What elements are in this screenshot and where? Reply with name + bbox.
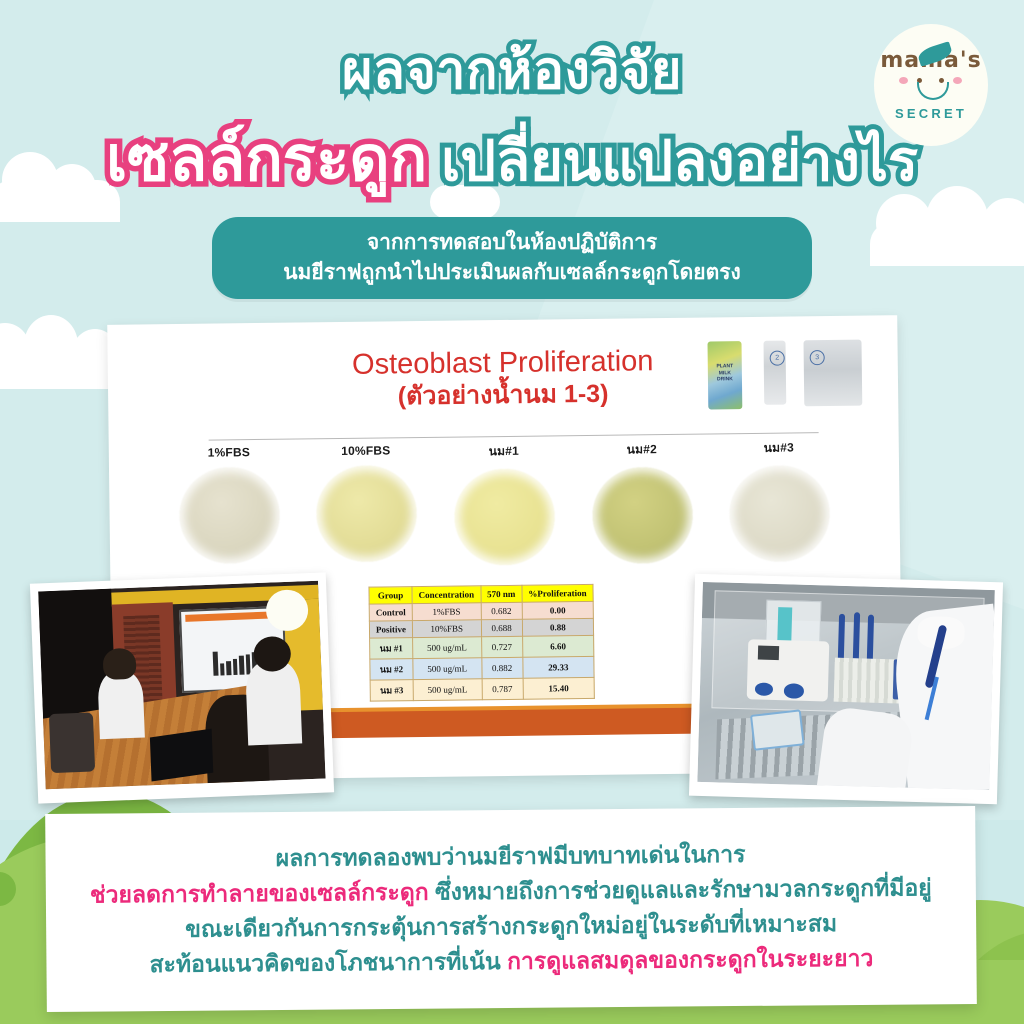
cell-od570: 0.787 [482,678,524,700]
foil-sachet-small-label: 2 [770,351,785,366]
well-column-1: 10%FBS [306,443,427,562]
col-header-proliferation: %Proliferation [522,584,594,602]
cell-group: Control [369,604,412,622]
meeting-room-presentation-photo [30,572,334,803]
well-label-0: 1%FBS [169,445,289,460]
poster-root: ผลจากห้องวิจัย เซลล์กระดูกเปลี่ยนแปลงอย่… [0,0,1024,1024]
cell-concentration: 500 ug/mL [413,637,482,659]
cheek-right-icon [953,77,962,84]
cell-proliferation: 29.33 [523,656,595,678]
cell-group: Positive [369,621,412,639]
well-image-4 [729,465,830,562]
conclusion-line-1: ผลการทดลองพบว่านมยีราฟมีบทบาทเด่นในการ [276,837,746,876]
cell-proliferation: 6.60 [522,635,594,657]
well-column-3: นม#2 [582,440,703,564]
subtitle-line-2: นมยีราฟถูกนำไปประเมินผลกับเซลล์กระดูกโดย… [283,258,741,288]
cell-concentration: 1%FBS [412,603,481,621]
title-highlight: เซลล์กระดูก [106,110,427,208]
cell-od570: 0.882 [481,657,523,679]
mamas-secret-logo-icon: mama's SECRET [874,24,988,146]
foil-pouch-large-label: 3 [810,350,825,365]
laboratory-pipetting-photo [689,574,1003,805]
smile-icon [917,82,949,100]
cell-concentration: 500 ug/mL [413,679,482,701]
conclusion-line-4-highlight: การดูแลสมดุลของกระดูกในระยะยาว [507,945,874,974]
plant-milk-pouch-image: PLANT MILK DRINK [707,341,742,409]
smiley-face-icon [895,74,967,104]
title-rest: เปลี่ยนแปลงอย่างไร [441,116,918,205]
well-image-3 [592,467,693,564]
results-table: Group Concentration 570 nm %Proliferatio… [368,584,594,702]
foil-pouch-large-image: 3 [803,340,862,407]
well-column-4: นม#3 [719,438,840,562]
well-image-0 [179,467,280,564]
cell-group: นม #3 [370,680,413,702]
product-sample-photos: PLANT MILK DRINK 2 3 [707,340,868,412]
conclusion-line-2-highlight: ช่วยลดการทำลายของเซลล์กระดูก [90,879,429,908]
poster-header: ผลจากห้องวิจัย เซลล์กระดูกเปลี่ยนแปลงอย่… [0,0,1024,310]
culture-well-row: 1%FBS 10%FBS นม#1 นม#2 นม#3 [169,438,841,586]
page-subtitle-row: เซลล์กระดูกเปลี่ยนแปลงอย่างไร [0,110,1024,208]
table-row: นม #2 500 ug/mL 0.882 29.33 [370,656,594,680]
cell-proliferation: 0.00 [522,601,594,619]
conclusion-line-3: ขณะเดียวกันการกระตุ้นการสร้างกระดูกใหม่อ… [185,906,837,947]
conclusion-line-4: สะท้อนแนวคิดของโภชนาการที่เน้น การดูแลสม… [149,941,873,982]
cell-od570: 0.727 [481,636,523,658]
well-image-1 [316,465,417,562]
cell-od570: 0.688 [481,619,522,637]
col-header-concentration: Concentration [412,586,481,604]
subtitle-pill: จากการทดสอบในห้องปฏิบัติการ นมยีราฟถูกนำ… [212,217,812,299]
conclusion-line-2-rest: ซึ่งหมายถึงการช่วยดูแลและรักษามวลกระดูกท… [429,874,932,904]
conclusion-line-4-rest: สะท้อนแนวคิดของโภชนาการที่เน้น [149,948,507,977]
page-title: ผลจากห้องวิจัย [0,28,1024,111]
well-label-3: นม#2 [582,440,702,460]
cell-proliferation: 0.88 [522,618,594,636]
cell-od570: 0.682 [481,602,522,620]
well-column-0: 1%FBS [169,445,290,564]
cheek-left-icon [899,77,908,84]
foil-sachet-small-image: 2 [763,341,786,405]
cell-concentration: 10%FBS [412,620,481,638]
cell-group: นม #1 [370,638,413,660]
cell-concentration: 500 ug/mL [413,658,482,680]
well-column-2: นม#1 [444,441,565,565]
slide-title-main: Osteoblast Proliferation [352,345,654,381]
cell-group: นม #2 [370,659,413,681]
well-image-2 [454,468,555,565]
plant-milk-pouch-label: PLANT MILK DRINK [712,363,738,383]
well-label-1: 10%FBS [306,443,426,458]
subtitle-line-1: จากการทดสอบในห้องปฏิบัติการ [367,228,657,258]
table-row: นม #1 500 ug/mL 0.727 6.60 [370,635,594,659]
well-label-2: นม#1 [444,441,564,461]
conclusion-card: ผลการทดลองพบว่านมยีราฟมีบทบาทเด่นในการ ช… [45,806,977,1012]
cell-proliferation: 15.40 [523,677,595,699]
well-label-4: นม#3 [719,438,839,458]
col-header-group: Group [369,587,412,605]
brand-tagline: SECRET [895,106,967,121]
slide-title-sub: (ตัวอย่างน้ำนม 1-3) [398,379,609,410]
col-header-od570: 570 nm [480,585,521,603]
table-row: นม #3 500 ug/mL 0.787 15.40 [370,677,594,701]
